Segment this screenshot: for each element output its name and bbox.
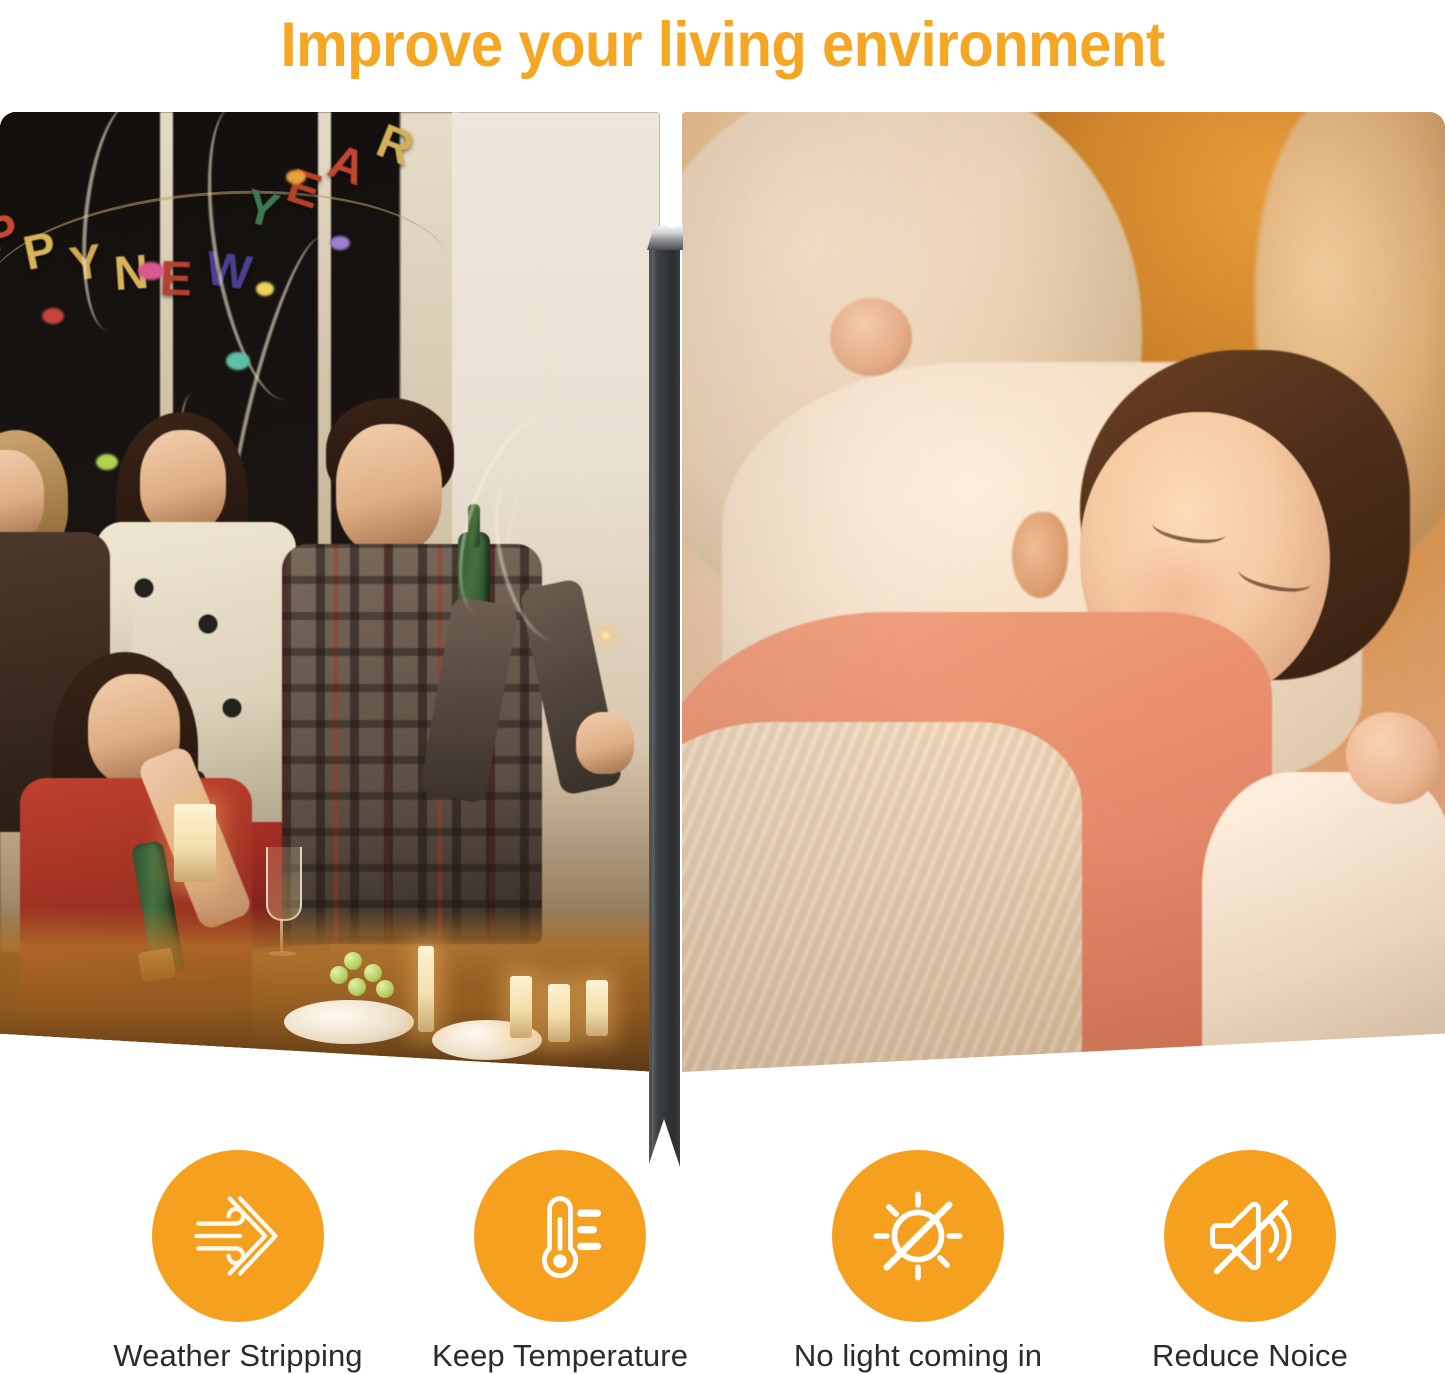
candle bbox=[586, 980, 608, 1036]
plate bbox=[284, 1000, 414, 1044]
feature-keep-temperature[interactable]: Keep Temperature bbox=[410, 1150, 710, 1374]
sleeping-child-photo bbox=[682, 112, 1445, 1072]
feature-reduce-noise[interactable]: Reduce Noice bbox=[1100, 1150, 1400, 1374]
page-title: Improve your living environment bbox=[280, 14, 1164, 77]
feature-icon-circle bbox=[1164, 1150, 1336, 1322]
warm-light-overlay bbox=[682, 112, 1445, 1072]
candle bbox=[548, 984, 570, 1042]
feature-row: Weather Stripping Keep Temperature bbox=[0, 1150, 1445, 1371]
hand bbox=[576, 712, 634, 774]
divider-highlight bbox=[652, 244, 658, 1174]
confetti bbox=[286, 170, 306, 184]
confetti bbox=[256, 282, 274, 296]
candle bbox=[418, 946, 434, 1032]
confetti bbox=[96, 454, 118, 470]
banner-letter: A bbox=[322, 134, 373, 198]
string-light bbox=[600, 630, 611, 641]
confetti bbox=[42, 308, 64, 324]
feature-label: Weather Stripping bbox=[113, 1338, 362, 1374]
headline-banner: Improve your living environment bbox=[0, 0, 1445, 90]
face bbox=[336, 424, 442, 554]
grapes bbox=[376, 980, 394, 998]
grapes bbox=[330, 966, 348, 984]
feature-icon-circle bbox=[152, 1150, 324, 1322]
feature-no-light[interactable]: No light coming in bbox=[768, 1150, 1068, 1374]
feature-label: No light coming in bbox=[794, 1338, 1042, 1374]
feature-icon-circle bbox=[474, 1150, 646, 1322]
new-year-party-photo: P P Y N E W Y E A R bbox=[0, 112, 660, 1072]
feature-icon-circle bbox=[832, 1150, 1004, 1322]
candle bbox=[510, 976, 532, 1038]
grapes bbox=[344, 952, 362, 970]
feature-label: Reduce Noice bbox=[1152, 1338, 1348, 1374]
confetti bbox=[138, 262, 164, 280]
weather-strip-divider bbox=[645, 224, 683, 1176]
grapes bbox=[364, 964, 382, 982]
speaker-mute-icon bbox=[1198, 1184, 1302, 1288]
banner-letter: R bbox=[369, 114, 422, 178]
thermometer-icon bbox=[508, 1184, 612, 1288]
wind-arrow-icon bbox=[186, 1184, 290, 1288]
hero-comparison: P P Y N E W Y E A R bbox=[0, 112, 1445, 1072]
left-photo-panel: P P Y N E W Y E A R bbox=[0, 112, 660, 1072]
sun-slash-icon bbox=[866, 1184, 970, 1288]
grapes bbox=[348, 978, 366, 996]
right-photo-panel bbox=[682, 112, 1445, 1072]
confetti bbox=[330, 236, 350, 250]
feature-label: Keep Temperature bbox=[432, 1338, 688, 1374]
divider-top-cap bbox=[647, 224, 683, 250]
banner-letter: E bbox=[159, 251, 193, 307]
confetti bbox=[226, 352, 250, 370]
pillar-candle bbox=[174, 804, 216, 882]
feature-weather-stripping[interactable]: Weather Stripping bbox=[88, 1150, 388, 1374]
face bbox=[140, 430, 226, 534]
